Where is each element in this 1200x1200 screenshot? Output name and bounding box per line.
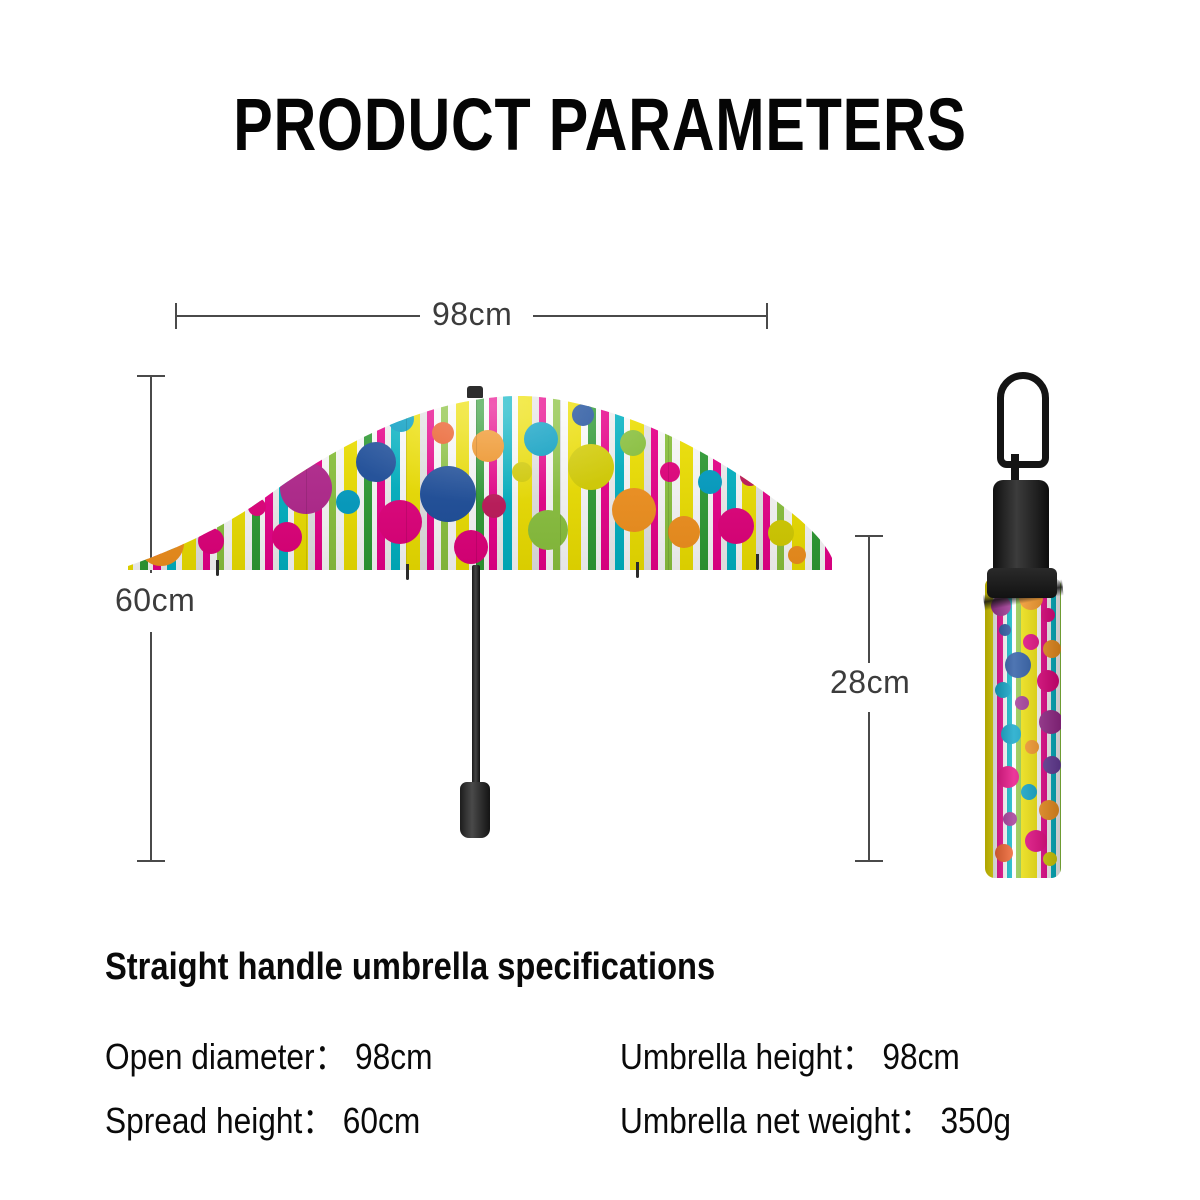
- canopy-dot: [178, 488, 200, 510]
- rib-tip: [636, 562, 639, 578]
- canopy-seam: [560, 370, 561, 570]
- spec-spread-height: Spread height：60cm: [105, 1092, 420, 1144]
- wrist-strap: [997, 372, 1049, 468]
- umbrella-handle-grip: [460, 782, 490, 838]
- spec-open-diameter-value: 98cm: [355, 1036, 432, 1077]
- spec-net-weight-value: 350g: [940, 1100, 1010, 1141]
- canopy-dot: [308, 392, 336, 420]
- folded-umbrella-body: [985, 578, 1061, 878]
- spec-net-weight-label: Umbrella net weight：: [620, 1100, 932, 1141]
- folded-umbrella-handle: [993, 480, 1049, 578]
- folded-umbrella-illustration: [975, 372, 1085, 882]
- product-parameters-page: PRODUCT PARAMETERS 98cm 60cm 28cm: [0, 0, 1200, 1200]
- rib-tip: [406, 564, 409, 580]
- folded-length-line-top: [868, 535, 870, 663]
- spec-open-diameter: Open diameter：98cm: [105, 1028, 433, 1080]
- height-dimension-bottom-tick: [137, 860, 165, 862]
- rib-tip: [216, 560, 219, 576]
- width-dimension-label: 98cm: [432, 296, 512, 333]
- width-dimension-right-tick: [766, 303, 768, 329]
- canopy-seam: [406, 370, 407, 570]
- canopy-dot: [320, 426, 340, 446]
- canopy-dot: [238, 432, 272, 466]
- width-dimension-line-right: [533, 315, 768, 317]
- umbrella-canopy: [120, 370, 835, 570]
- spec-net-weight: Umbrella net weight：350g: [620, 1092, 1011, 1144]
- canopy-seam: [306, 370, 307, 570]
- spec-open-diameter-label: Open diameter：: [105, 1036, 346, 1077]
- width-dimension-line-left: [175, 315, 420, 317]
- page-title: PRODUCT PARAMETERS: [120, 82, 1080, 167]
- folded-body-shading: [985, 578, 1061, 878]
- rib-tip: [756, 554, 759, 570]
- spec-spread-height-label: Spread height：: [105, 1100, 334, 1141]
- open-umbrella-illustration: [120, 370, 860, 840]
- folded-length-bottom-tick: [855, 860, 883, 862]
- spec-umbrella-height-value: 98cm: [882, 1036, 959, 1077]
- canopy-seam: [668, 370, 669, 570]
- spec-umbrella-height: Umbrella height：98cm: [620, 1028, 960, 1080]
- canopy-shading: [120, 370, 835, 570]
- spec-spread-height-value: 60cm: [343, 1100, 420, 1141]
- umbrella-shaft: [472, 565, 480, 793]
- spec-umbrella-height-label: Umbrella height：: [620, 1036, 874, 1077]
- canopy-ferrule: [467, 386, 483, 398]
- specifications-heading: Straight handle umbrella specifications: [105, 946, 715, 989]
- canopy-dot: [142, 482, 160, 500]
- canopy-seam: [476, 370, 477, 570]
- folded-umbrella-collar: [987, 568, 1057, 598]
- folded-length-line-bottom: [868, 712, 870, 862]
- canopy-dot: [208, 466, 252, 510]
